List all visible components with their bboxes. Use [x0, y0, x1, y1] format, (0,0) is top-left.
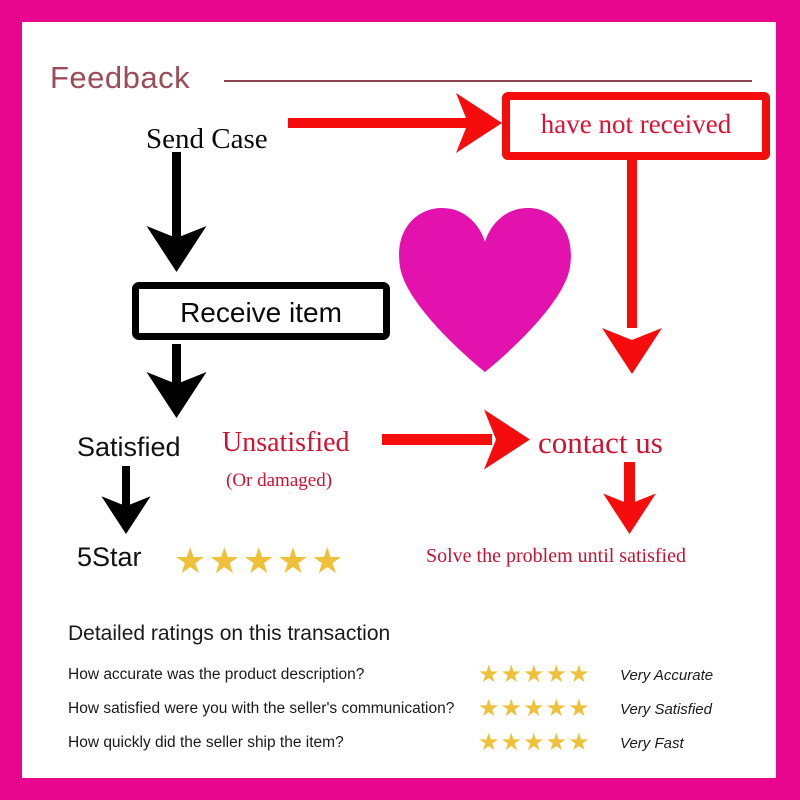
arrow-receive-item-to-satisfied: [147, 344, 207, 418]
rating-row: How satisfied were you with the seller's…: [68, 692, 768, 726]
node-solve-problem: Solve the problem until satisfied: [426, 545, 686, 568]
node-5star: 5Star: [77, 542, 142, 573]
star-icon: ★: [277, 543, 309, 579]
node-receive-item-label: Receive item: [139, 297, 383, 329]
node-have-not-received: have not received: [502, 92, 770, 160]
heart-icon: [399, 208, 571, 372]
rating-stars[interactable]: ★★★★★: [478, 731, 620, 755]
star-icon: ★: [208, 543, 240, 579]
star-icon: ★: [568, 731, 590, 755]
arrow-satisfied-to-5star: [101, 466, 150, 534]
star-icon: ★: [501, 697, 523, 721]
rating-question: How satisfied were you with the seller's…: [68, 700, 478, 718]
rating-question: How quickly did the seller ship the item…: [68, 734, 478, 752]
star-icon: ★: [501, 663, 523, 687]
node-unsatisfied: Unsatisfied: [222, 427, 350, 459]
node-receive-item: Receive item: [132, 282, 390, 340]
star-icon: ★: [478, 731, 500, 755]
arrow-unsatisfied-to-contact-us: [382, 410, 530, 470]
rating-stars[interactable]: ★★★★★: [478, 663, 620, 687]
page-title: Feedback: [50, 60, 190, 96]
title-divider: [224, 80, 752, 82]
rating-row: How quickly did the seller ship the item…: [68, 726, 768, 760]
rating-label: Very Satisfied: [620, 701, 712, 718]
arrow-have-not-received-to-contact-us: [602, 160, 662, 374]
detailed-ratings-section: Detailed ratings on this transaction How…: [68, 622, 768, 760]
star-icon: ★: [478, 663, 500, 687]
star-icon: ★: [523, 697, 545, 721]
node-have-not-received-label: have not received: [510, 109, 762, 140]
feedback-card: Feedback Send Case Receive item Satisfie…: [22, 22, 776, 778]
node-contact-us: contact us: [538, 425, 663, 461]
arrow-send-case-to-have-not-received: [288, 93, 502, 153]
ratings-title: Detailed ratings on this transaction: [68, 622, 768, 646]
node-satisfied: Satisfied: [77, 432, 181, 463]
node-send-case: Send Case: [146, 123, 268, 156]
star-icon: ★: [501, 731, 523, 755]
star-icon: ★: [523, 663, 545, 687]
star-icon: ★: [311, 543, 343, 579]
star-icon: ★: [568, 697, 590, 721]
star-icon: ★: [546, 731, 568, 755]
star-icon: ★: [174, 543, 206, 579]
star-icon: ★: [243, 543, 275, 579]
star-icon: ★: [523, 731, 545, 755]
rating-label: Very Accurate: [620, 667, 713, 684]
rating-stars[interactable]: ★★★★★: [478, 697, 620, 721]
star-icon: ★: [568, 663, 590, 687]
star-icon: ★: [478, 697, 500, 721]
rating-question: How accurate was the product description…: [68, 666, 478, 684]
flow-star-rating: ★★★★★: [174, 543, 343, 579]
star-icon: ★: [546, 663, 568, 687]
arrow-send-case-to-receive-item: [147, 152, 207, 272]
arrow-contact-us-to-solve: [603, 462, 656, 534]
star-icon: ★: [546, 697, 568, 721]
rating-label: Very Fast: [620, 735, 684, 752]
rating-row: How accurate was the product description…: [68, 658, 768, 692]
node-unsatisfied-sub: (Or damaged): [226, 470, 332, 492]
